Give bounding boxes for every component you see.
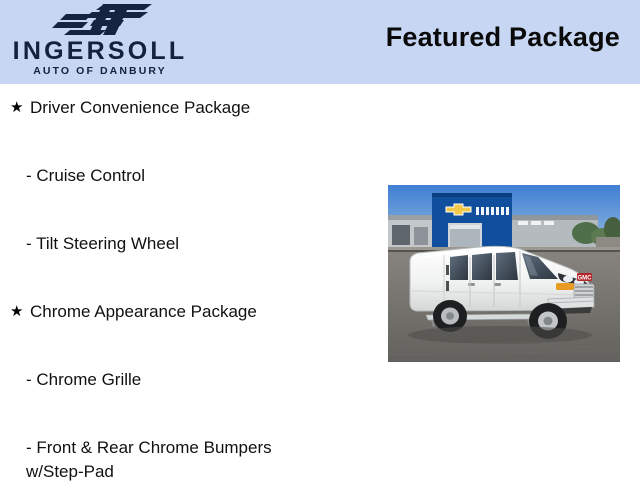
list-item-label: Driver Convenience Package — [30, 96, 360, 120]
list-item: - Cruise Control — [0, 164, 360, 188]
list-item: - Front & Rear Chrome Bumpers w/Step-Pad — [0, 436, 360, 484]
list-item: - Chrome Grille — [0, 368, 360, 392]
logo-tagline: AUTO OF DANBURY — [0, 65, 200, 77]
svg-text:GMC: GMC — [578, 276, 593, 282]
feature-list: ★ Driver Convenience Package - Cruise Co… — [0, 96, 360, 484]
list-item: ★ Driver Convenience Package — [0, 96, 360, 120]
list-item-label: - Cruise Control — [26, 164, 316, 188]
list-item-label: - Tilt Steering Wheel — [26, 232, 316, 256]
page-title: Featured Package — [386, 22, 620, 53]
vehicle-photo: GMC — [388, 185, 620, 362]
star-bullet-icon: ★ — [10, 300, 24, 324]
star-bullet-icon: ★ — [10, 96, 24, 120]
list-item: - Tilt Steering Wheel — [0, 232, 360, 256]
list-item-label: - Chrome Grille — [26, 368, 316, 392]
ingersoll-wings-emblem — [48, 3, 156, 36]
list-item-label: Chrome Appearance Package — [30, 300, 360, 324]
list-item: ★ Chrome Appearance Package — [0, 300, 360, 324]
logo-wordmark: INGERSOLL — [0, 38, 200, 64]
list-item-label: - Front & Rear Chrome Bumpers w/Step-Pad — [26, 436, 316, 484]
slide-header: INGERSOLL AUTO OF DANBURY Featured Packa… — [0, 0, 640, 84]
dealer-logo: INGERSOLL AUTO OF DANBURY — [0, 0, 200, 84]
